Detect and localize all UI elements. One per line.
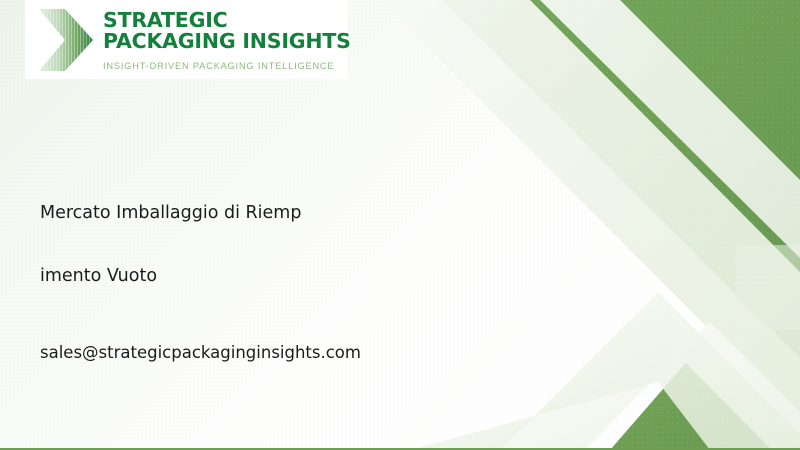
contact-email: sales@strategicpackaginginsights.com bbox=[40, 345, 470, 362]
brand-wordmark: STRATEGIC PACKAGING INSIGHTS INSIGHT-DRI… bbox=[103, 8, 351, 71]
brand-tagline: INSIGHT-DRIVEN PACKAGING INTELLIGENCE bbox=[103, 61, 351, 71]
brand-name-line-2: PACKAGING INSIGHTS bbox=[103, 31, 351, 52]
title-slide: STRATEGIC PACKAGING INSIGHTS INSIGHT-DRI… bbox=[0, 0, 800, 450]
slide-title-line-1: Mercato Imballaggio di Riemp bbox=[40, 205, 470, 223]
slide-body: Mercato Imballaggio di Riemp imento Vuot… bbox=[40, 205, 470, 362]
slide-title-line-2: imento Vuoto bbox=[40, 268, 470, 286]
brand-name-line-1: STRATEGIC bbox=[103, 10, 351, 31]
brand-logo: STRATEGIC PACKAGING INSIGHTS INSIGHT-DRI… bbox=[25, 0, 347, 79]
chevron-arrow-icon bbox=[35, 6, 97, 74]
